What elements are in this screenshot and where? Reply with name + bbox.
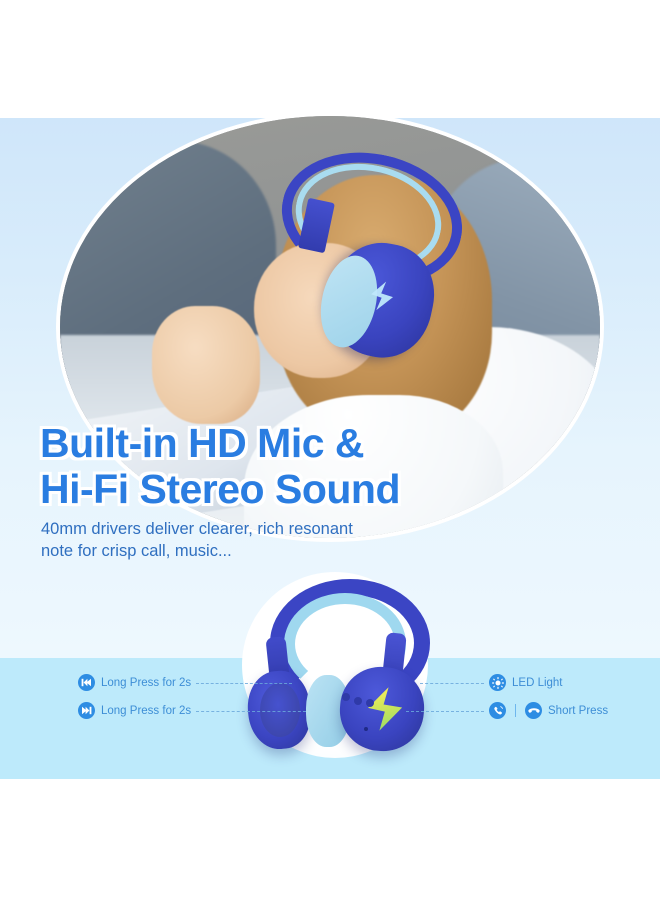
top-white-band: [0, 0, 660, 118]
callout-divider: [515, 704, 516, 717]
connector-line-right-2: [406, 711, 484, 712]
phone-call-icon: [489, 702, 506, 719]
callout-label: Long Press for 2s: [101, 677, 191, 689]
marketing-banner: Built-in HD Mic & Hi-Fi Stereo Sound 40m…: [0, 0, 660, 900]
next-track-icon: [78, 702, 95, 719]
connector-line-left-1: [196, 683, 292, 684]
previous-track-icon: [78, 674, 95, 691]
product-button-1: [342, 693, 350, 701]
led-sparkle-icon: [489, 674, 506, 691]
connector-line-left-2: [196, 711, 306, 712]
product-earpad-left: [260, 683, 300, 737]
product-mic-hole: [364, 727, 368, 731]
callout-label: Long Press for 2s: [101, 705, 191, 717]
phone-hangup-icon: [525, 702, 542, 719]
callout-led-light: LED Light: [489, 674, 563, 691]
connector-line-right-1: [420, 683, 484, 684]
callout-short-press: Short Press: [489, 702, 608, 719]
product-button-2: [354, 697, 362, 705]
product-button-3: [366, 699, 374, 707]
callout-next-track: Long Press for 2s: [78, 702, 191, 719]
headline: Built-in HD Mic & Hi-Fi Stereo Sound: [40, 420, 600, 512]
product-headphones: [246, 575, 424, 755]
bottom-white-band: [0, 779, 660, 900]
callout-previous-track: Long Press for 2s: [78, 674, 191, 691]
subheading: 40mm drivers deliver clearer, rich reson…: [41, 518, 461, 562]
callout-label: LED Light: [512, 677, 563, 689]
callout-label: Short Press: [548, 705, 608, 717]
photo-hand: [152, 306, 260, 424]
